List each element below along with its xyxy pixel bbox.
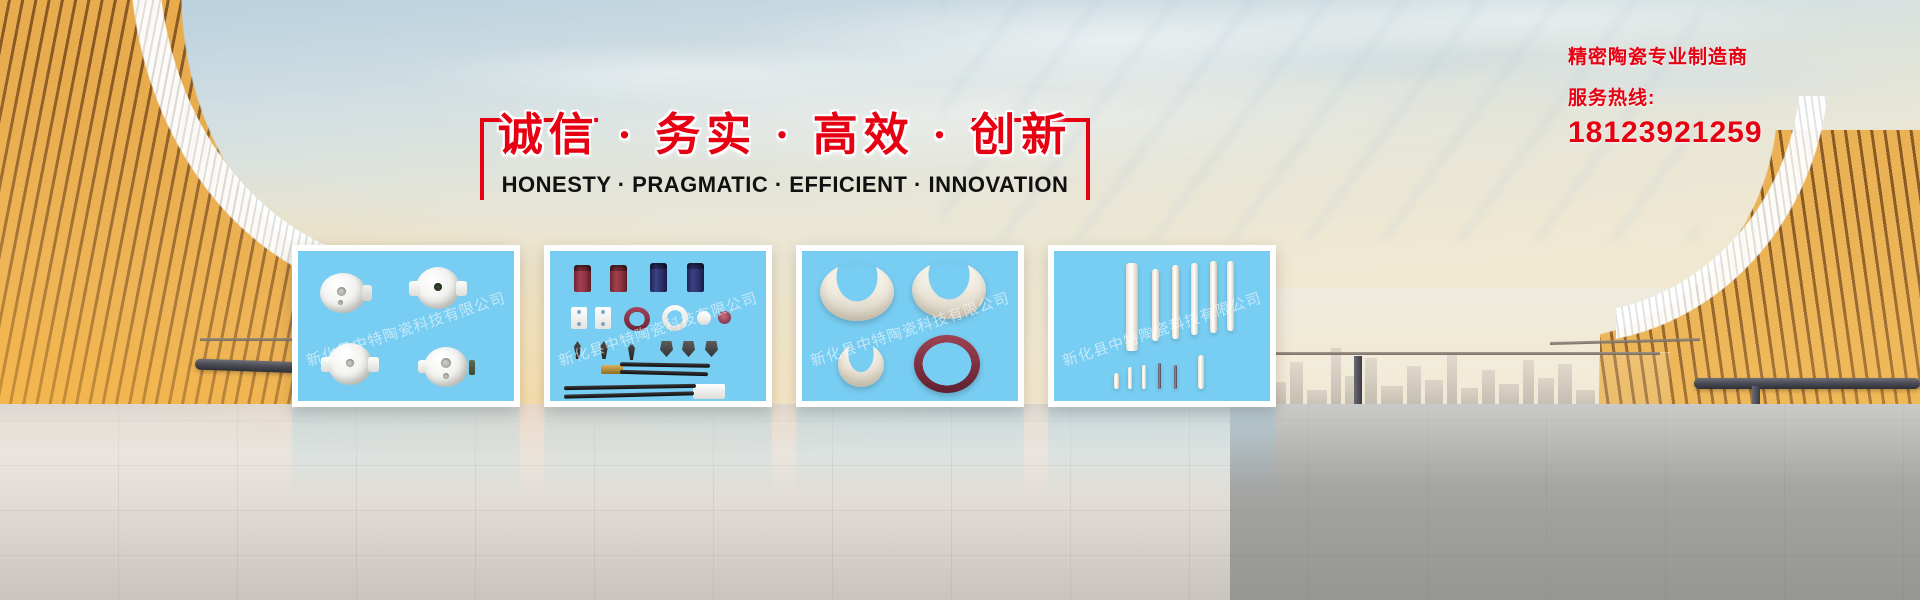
- panel-reflection: [292, 407, 520, 499]
- hero-banner: 诚信 · 务实 · 高效 · 创新 HONESTY · PRAGMATIC · …: [0, 0, 1920, 600]
- panel-reflection: [544, 407, 772, 499]
- panel-reflection: [1048, 407, 1276, 499]
- product-panel-rods[interactable]: 新化县中特陶瓷科技有限公司: [1048, 245, 1276, 407]
- panel-watermark: 新化县中特陶瓷科技有限公司: [556, 287, 760, 371]
- product-panel-lamp-holders[interactable]: 新化县中特陶瓷科技有限公司: [292, 245, 520, 407]
- product-panel-row: 新化县中特陶瓷科技有限公司: [0, 0, 1920, 600]
- product-panel-rings[interactable]: 新化县中特陶瓷科技有限公司: [796, 245, 1024, 407]
- product-panel-terminals[interactable]: 新化县中特陶瓷科技有限公司: [544, 245, 772, 407]
- panel-reflection: [796, 407, 1024, 499]
